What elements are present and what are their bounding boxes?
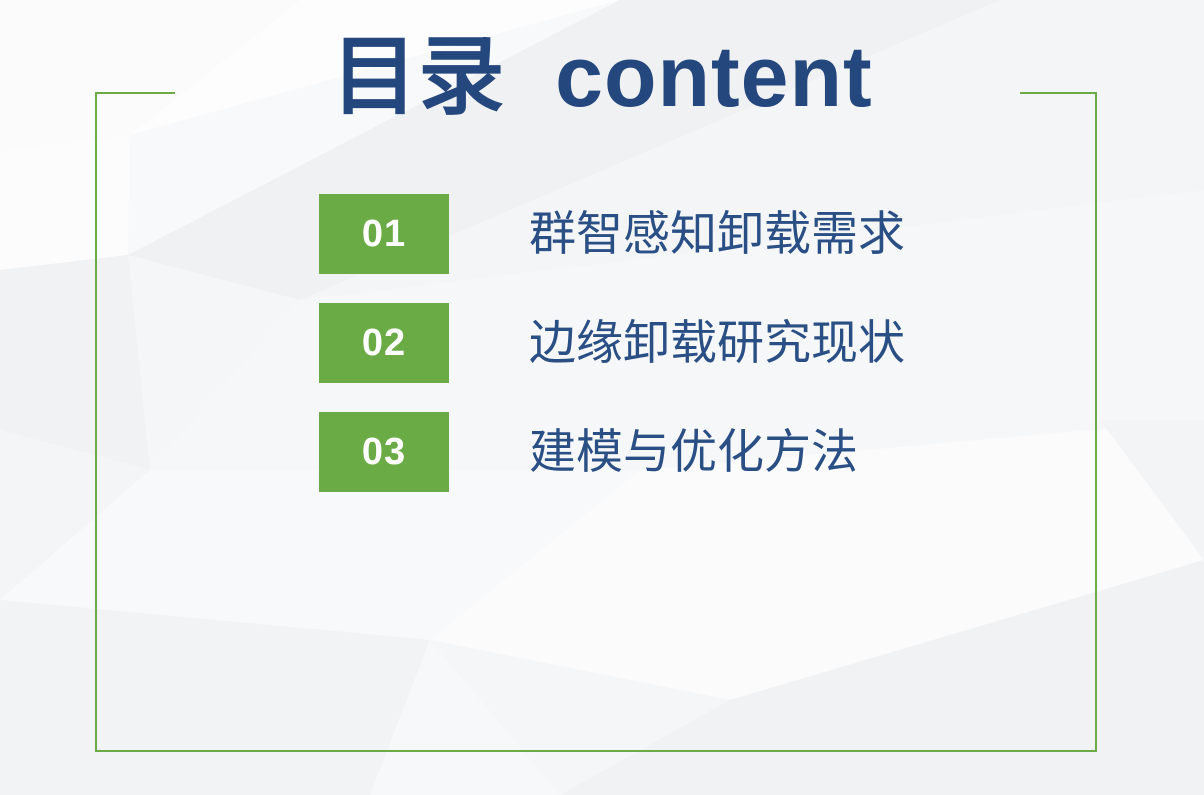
agenda-number-box-01: 01 (319, 194, 449, 274)
agenda-item-label-02: 边缘卸载研究现状 (529, 317, 905, 369)
agenda-number-box-03: 03 (319, 412, 449, 492)
agenda-item-01[interactable]: 01 群智感知卸载需求 (319, 194, 1079, 274)
agenda-item-label-01: 群智感知卸载需求 (529, 208, 905, 260)
slide-title-block: 目录 content (0, 28, 1204, 127)
agenda-list: 01 群智感知卸载需求 02 边缘卸载研究现状 03 建模与优化方法 (319, 194, 1079, 492)
agenda-item-03[interactable]: 03 建模与优化方法 (319, 412, 1079, 492)
agenda-item-02[interactable]: 02 边缘卸载研究现状 (319, 303, 1079, 383)
frame-border-bottom (95, 750, 1097, 752)
agenda-number-label-03: 03 (362, 433, 406, 471)
agenda-item-label-03: 建模与优化方法 (529, 426, 858, 478)
frame-border-right (1095, 92, 1097, 752)
agenda-number-box-02: 02 (319, 303, 449, 383)
frame-border-left (95, 92, 97, 752)
page-title: 目录 content (331, 28, 872, 127)
agenda-number-label-02: 02 (362, 324, 406, 362)
agenda-number-label-01: 01 (362, 215, 406, 253)
presentation-slide: 目录 content 01 群智感知卸载需求 02 边缘卸载研究现状 03 建模… (0, 0, 1204, 795)
